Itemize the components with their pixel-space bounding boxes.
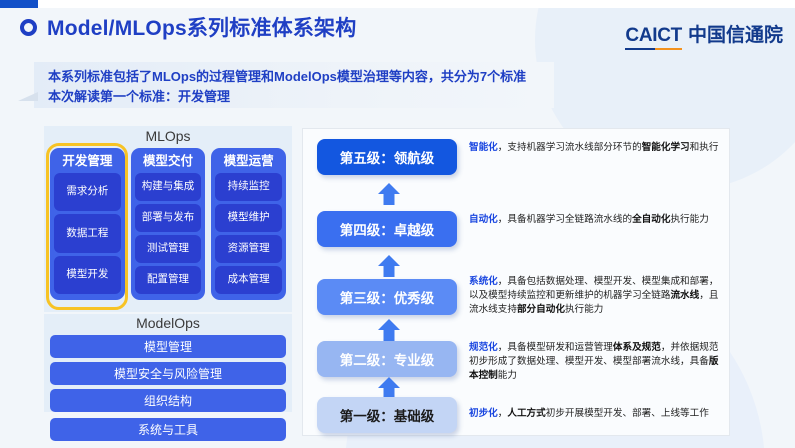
logo-underline-icon xyxy=(625,48,682,51)
column-header: 模型运营 xyxy=(215,152,282,173)
desc-sep: ， xyxy=(498,276,508,287)
desc-body: 具备模型研发和运营管理 xyxy=(507,342,613,353)
mlops-item[interactable]: 成本管理 xyxy=(215,266,282,294)
desc-emphasis: 人工方式 xyxy=(507,408,545,419)
up-arrow-icon xyxy=(377,255,401,277)
corner-accent-bar xyxy=(0,0,38,8)
mlops-item[interactable]: 持续监控 xyxy=(215,173,282,201)
title-row: Model/MLOps系列标准体系架构 xyxy=(20,12,356,42)
subtitle-text: 本系列标准包括了MLOps的过程管理和ModelOps模型治理等内容，共分为7个… xyxy=(48,67,550,107)
mlops-column-development[interactable]: 开发管理 需求分析 数据工程 模型开发 xyxy=(50,148,125,300)
modelops-bar[interactable]: 模型安全与风险管理 xyxy=(50,362,286,385)
mlops-section: MLOps 开发管理 需求分析 数据工程 模型开发 模型交付 构建与集成 部署与 xyxy=(44,126,292,312)
modelops-section: ModelOps 模型管理 模型安全与风险管理 组织结构 xyxy=(44,314,292,412)
desc-emphasis: 部分自动化 xyxy=(517,304,565,315)
mlops-item[interactable]: 资源管理 xyxy=(215,235,282,263)
ring-bullet-icon xyxy=(20,19,37,36)
mlops-item[interactable]: 模型开发 xyxy=(54,256,121,294)
desc-body: 能力 xyxy=(498,370,517,381)
column-header: 模型交付 xyxy=(135,152,202,173)
page-title: Model/MLOps系列标准体系架构 xyxy=(47,12,356,42)
logo-mark: CAICT xyxy=(625,25,682,50)
desc-sep: ， xyxy=(498,342,508,353)
logo-mark-text: CAICT xyxy=(625,25,682,46)
mlops-columns: 开发管理 需求分析 数据工程 模型开发 模型交付 构建与集成 部署与发布 测试管… xyxy=(50,148,286,300)
column-items: 持续监控 模型维护 资源管理 成本管理 xyxy=(215,173,282,294)
mlops-caption: MLOps xyxy=(44,128,292,144)
desc-body: 具备机器学习全链路流水线的 xyxy=(507,214,632,225)
mlops-item[interactable]: 部署与发布 xyxy=(135,204,202,232)
mlops-item[interactable]: 构建与集成 xyxy=(135,173,202,201)
desc-keyword: 系统化 xyxy=(469,276,498,287)
maturity-level-3[interactable]: 第三级：优秀级 xyxy=(317,279,457,315)
maturity-description-4: 自动化，具备机器学习全链路流水线的全自动化执行能力 xyxy=(469,213,719,227)
top-white-strip xyxy=(38,0,795,8)
desc-body: 和执行 xyxy=(690,142,719,153)
column-items: 需求分析 数据工程 模型开发 xyxy=(54,173,121,294)
desc-sep: ， xyxy=(498,142,508,153)
modelops-caption: ModelOps xyxy=(44,315,292,331)
desc-body: 执行能力 xyxy=(670,214,708,225)
up-arrow-icon xyxy=(377,183,401,205)
mlops-item[interactable]: 数据工程 xyxy=(54,214,121,252)
subtitle-banner: 本系列标准包括了MLOps的过程管理和ModelOps模型治理等内容，共分为7个… xyxy=(34,62,554,108)
column-header: 开发管理 xyxy=(54,152,121,173)
slide-root: Model/MLOps系列标准体系架构 CAICT 中国信通院 本系列标准包括了… xyxy=(0,0,795,448)
mlops-architecture-panel: MLOps 开发管理 需求分析 数据工程 模型开发 模型交付 构建与集成 部署与 xyxy=(44,126,292,440)
maturity-level-5[interactable]: 第五级：领航级 xyxy=(317,139,457,175)
mlops-item[interactable]: 模型维护 xyxy=(215,204,282,232)
maturity-levels-panel: 第五级：领航级 第四级：卓越级 第三级：优秀级 第二级：专业级 第一级：基础级 … xyxy=(302,128,730,436)
desc-emphasis: 体系及规范 xyxy=(613,342,661,353)
desc-sep: ， xyxy=(498,408,508,419)
modelops-bars: 模型管理 模型安全与风险管理 组织结构 xyxy=(50,335,286,412)
desc-emphasis: 流水线 xyxy=(670,290,699,301)
mlops-column-delivery[interactable]: 模型交付 构建与集成 部署与发布 测试管理 配置管理 xyxy=(131,148,206,300)
maturity-description-5: 智能化，支持机器学习流水线部分环节的智能化学习和执行 xyxy=(469,141,719,155)
systems-and-tools-bar[interactable]: 系统与工具 xyxy=(50,418,286,441)
desc-keyword: 初步化 xyxy=(469,408,498,419)
maturity-description-3: 系统化，具备包括数据处理、模型开发、模型集成和部署，以及模型持续监控和更新维护的… xyxy=(469,275,719,317)
desc-keyword: 规范化 xyxy=(469,342,498,353)
desc-body: 初步开展模型开发、部署、上线等工作 xyxy=(546,408,709,419)
desc-body: 支持机器学习流水线部分环节的 xyxy=(507,142,641,153)
desc-body: 执行能力 xyxy=(565,304,603,315)
slide-header: Model/MLOps系列标准体系架构 CAICT 中国信通院 xyxy=(0,8,795,56)
maturity-description-2: 规范化，具备模型研发和运营管理体系及规范，并依据规范初步形成了数据处理、模型开发… xyxy=(469,341,719,383)
maturity-level-2[interactable]: 第二级：专业级 xyxy=(317,341,457,377)
maturity-descriptions: 智能化，支持机器学习流水线部分环节的智能化学习和执行 自动化，具备机器学习全链路… xyxy=(469,135,719,431)
up-arrow-icon xyxy=(377,377,401,399)
mlops-item[interactable]: 需求分析 xyxy=(54,173,121,211)
column-items: 构建与集成 部署与发布 测试管理 配置管理 xyxy=(135,173,202,294)
desc-keyword: 智能化 xyxy=(469,142,498,153)
modelops-bar[interactable]: 模型管理 xyxy=(50,335,286,358)
maturity-level-stack: 第五级：领航级 第四级：卓越级 第三级：优秀级 第二级：专业级 第一级：基础级 xyxy=(317,135,457,431)
maturity-level-4[interactable]: 第四级：卓越级 xyxy=(317,211,457,247)
mlops-column-operations[interactable]: 模型运营 持续监控 模型维护 资源管理 成本管理 xyxy=(211,148,286,300)
mlops-item[interactable]: 配置管理 xyxy=(135,266,202,294)
subtitle-line-1: 本系列标准包括了MLOps的过程管理和ModelOps模型治理等内容，共分为7个… xyxy=(48,67,550,87)
logo-cn-text: 中国信通院 xyxy=(688,20,783,50)
desc-emphasis: 全自动化 xyxy=(632,214,670,225)
maturity-description-1: 初步化，人工方式初步开展模型开发、部署、上线等工作 xyxy=(469,407,719,421)
subtitle-line-2: 本次解读第一个标准：开发管理 xyxy=(48,87,550,107)
desc-emphasis: 智能化学习 xyxy=(642,142,690,153)
modelops-bar[interactable]: 组织结构 xyxy=(50,389,286,412)
caict-logo: CAICT 中国信通院 xyxy=(625,20,783,50)
desc-keyword: 自动化 xyxy=(469,214,498,225)
desc-sep: ， xyxy=(498,214,508,225)
maturity-level-1[interactable]: 第一级：基础级 xyxy=(317,397,457,433)
up-arrow-icon xyxy=(377,319,401,341)
mlops-item[interactable]: 测试管理 xyxy=(135,235,202,263)
